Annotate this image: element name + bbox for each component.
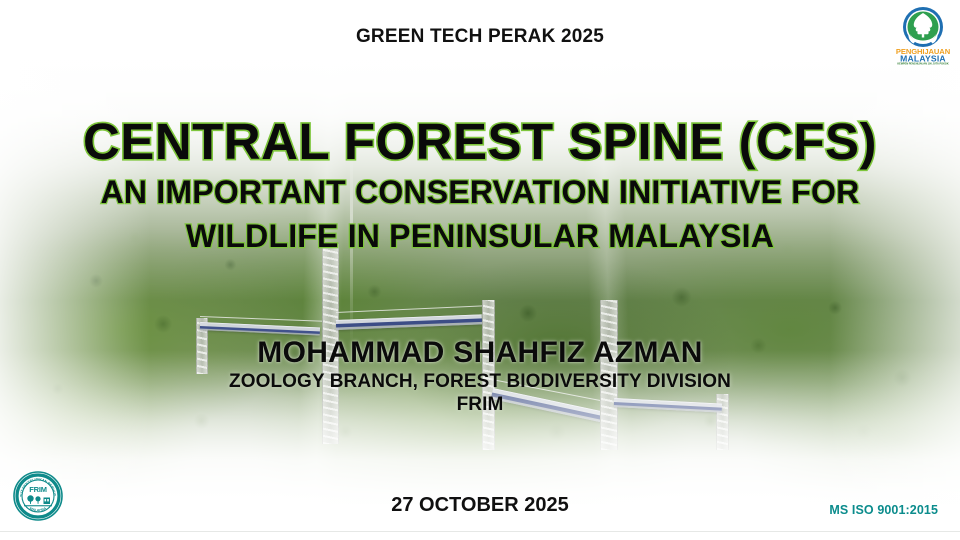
walkway-deck-center	[336, 314, 482, 330]
presenter-block: MOHAMMAD SHAHFIZ AZMAN ZOOLOGY BRANCH, F…	[0, 336, 960, 417]
frim-seal-icon: INSTITUT PENYELIDIKAN PERHUTANAN MALAYSI…	[12, 470, 64, 522]
walkway-cable-center	[336, 305, 486, 313]
background-photo	[0, 0, 960, 540]
svg-text:KEMPEN PENGHIJAUAN 100 JUTA PO: KEMPEN PENGHIJAUAN 100 JUTA POKOK	[897, 63, 948, 66]
walkway-cable-left	[200, 316, 324, 322]
event-header-title: GREEN TECH PERAK 2025	[0, 26, 960, 48]
presenter-name: MOHAMMAD SHAHFIZ AZMAN	[0, 336, 960, 370]
event-date: 27 OCTOBER 2025	[0, 494, 960, 517]
presenter-organisation: FRIM	[0, 393, 960, 417]
title-block: CENTRAL FOREST SPINE (CFS) AN IMPORTANT …	[0, 116, 960, 256]
iso-certification-label: MS ISO 9001:2015	[829, 503, 938, 517]
fog-fade-right	[830, 0, 960, 540]
presenter-unit: ZOOLOGY BRANCH, FOREST BIODIVERSITY DIVI…	[0, 370, 960, 394]
footer-hairline-divider	[0, 531, 960, 532]
walkway-deck-left	[200, 322, 320, 335]
page-subtitle-line-1: AN IMPORTANT CONSERVATION INITIATIVE FOR	[0, 174, 960, 212]
frim-logo: INSTITUT PENYELIDIKAN PERHUTANAN MALAYSI…	[12, 470, 64, 522]
page-subtitle-line-2: WILDLIFE IN PENINSULAR MALAYSIA	[0, 218, 960, 256]
page-title: CENTRAL FOREST SPINE (CFS)	[0, 116, 960, 168]
svg-text:FRIM: FRIM	[29, 485, 47, 494]
presentation-title-slide: PENGHIJAUAN MALAYSIA KEMPEN PENGHIJAUAN …	[0, 0, 960, 540]
fog-fade-left	[0, 0, 150, 540]
